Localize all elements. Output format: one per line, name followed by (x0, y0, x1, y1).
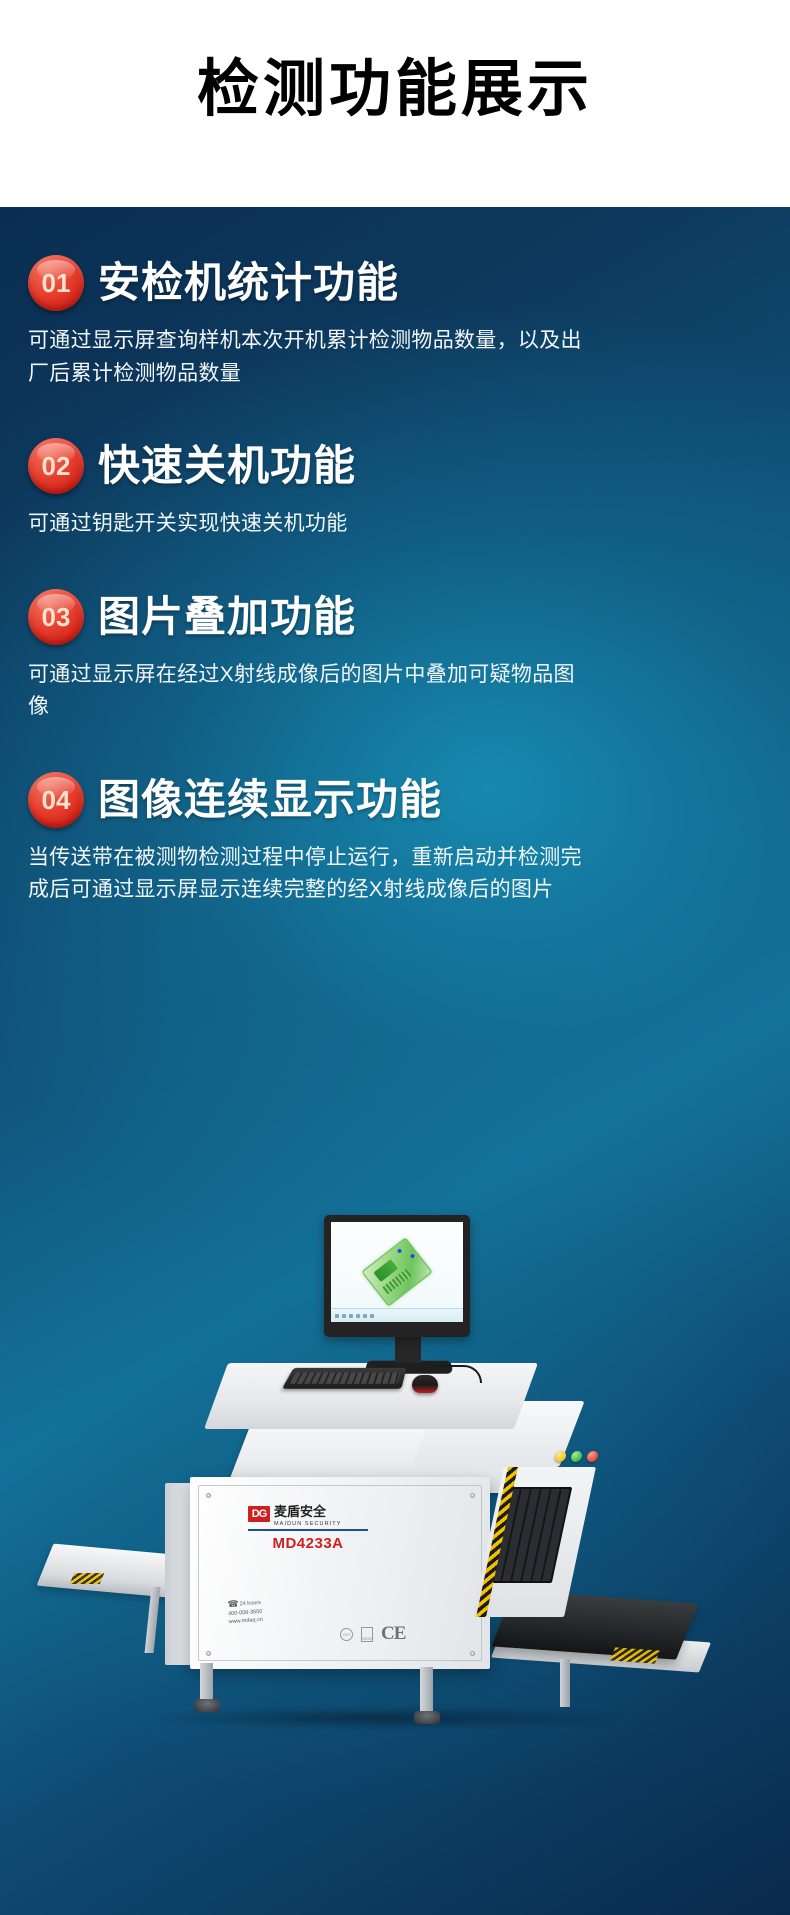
feature-item-01: 01 安检机统计功能 可通过显示屏查询样机本次开机累计检测物品数量，以及出厂后累… (0, 207, 790, 390)
feature-title: 图片叠加功能 (98, 594, 356, 639)
iso-certification-icon: ISO (340, 1628, 353, 1641)
feature-description: 可通过钥匙开关实现快速关机功能 (28, 508, 588, 541)
brand-logo-row: DG 麦盾安全 MAIDUN SECURITY (248, 1501, 368, 1527)
lamp-yellow-icon (554, 1451, 567, 1462)
xray-threat-marker (410, 1253, 416, 1259)
toolbar-icon (349, 1314, 353, 1318)
panel-screw (470, 1493, 475, 1498)
feature-heading-row: 04 图像连续显示功能 (28, 772, 762, 828)
feature-item-02: 02 快速关机功能 可通过钥匙开关实现快速关机功能 (0, 390, 790, 541)
monitor-screen (331, 1222, 463, 1322)
feature-list: 01 安检机统计功能 可通过显示屏查询样机本次开机累计检测物品数量，以及出厂后累… (0, 207, 790, 907)
ce-certification-icon: CE (381, 1623, 405, 1645)
feature-number-label: 03 (42, 604, 71, 630)
feature-description: 可通过显示屏在经过X射线成像后的图片中叠加可疑物品图像 (28, 659, 588, 724)
cabinet-foot (414, 1711, 440, 1724)
service-hours-label: 24 hours (239, 1600, 261, 1607)
brand-logo: DG 麦盾安全 MAIDUN SECURITY MD4233A (248, 1501, 368, 1552)
cabinet-foot (194, 1699, 220, 1712)
page-title: 检测功能展示 (197, 59, 593, 149)
hazard-label-left (70, 1573, 104, 1584)
toolbar-icon (342, 1314, 346, 1318)
screen-toolbar (331, 1308, 463, 1322)
product-model-number: MD4233A (248, 1535, 368, 1552)
feature-number-badge: 04 (28, 772, 84, 828)
cabinet-left-edge (165, 1483, 193, 1665)
cabinet-leg (420, 1667, 433, 1715)
brand-logomark-icon: DG (248, 1506, 270, 1522)
cabinet-leg (200, 1663, 213, 1703)
contact-info: ☎24 hours 400-008-3650 www.mdaq.cn (227, 1596, 263, 1627)
indicator-lamps (554, 1451, 599, 1462)
lamp-red-icon (586, 1451, 599, 1462)
feature-number-badge: 03 (28, 589, 84, 645)
product-feature-page: 检测功能展示 01 安检机统计功能 可通过显示屏查询样机本次开机累计检测物品数量… (0, 0, 790, 1915)
keyboard-keys (290, 1372, 401, 1383)
monitor-stand (395, 1337, 421, 1363)
phone-icon: ☎ (227, 1597, 239, 1611)
feature-title: 图像连续显示功能 (98, 777, 442, 822)
lamp-green-icon (570, 1451, 583, 1462)
panel-screw (470, 1651, 475, 1656)
input-conveyor-leg (145, 1587, 161, 1653)
product-photo: DG 麦盾安全 MAIDUN SECURITY MD4233A ☎24 hour… (0, 1215, 790, 1915)
feature-number-badge: 02 (28, 438, 84, 494)
feature-item-03: 03 图片叠加功能 可通过显示屏在经过X射线成像后的图片中叠加可疑物品图像 (0, 541, 790, 724)
panel-screw (206, 1651, 211, 1656)
brand-underline (248, 1529, 368, 1531)
floor-shadow (150, 1707, 620, 1729)
feature-title: 快速关机功能 (98, 443, 356, 488)
feature-title: 安检机统计功能 (98, 260, 399, 305)
feature-heading-row: 01 安检机统计功能 (28, 255, 762, 311)
toolbar-icon (335, 1314, 339, 1318)
panel-screw (206, 1493, 211, 1498)
toolbar-icon (363, 1314, 367, 1318)
toolbar-icon (356, 1314, 360, 1318)
brand-name-cn: 麦盾安全 (274, 1501, 342, 1520)
weee-certification-icon: WEEE (361, 1627, 373, 1642)
toolbar-icon (370, 1314, 374, 1318)
certification-marks: ISO WEEE CE (340, 1623, 405, 1645)
brand-name-en: MAIDUN SECURITY (274, 1521, 342, 1527)
brand-text-block: 麦盾安全 MAIDUN SECURITY (274, 1501, 342, 1527)
xray-threat-marker (397, 1248, 403, 1254)
feature-description: 当传送带在被测物检测过程中停止运行，重新启动并检测完成后可通过显示屏显示连续完整… (28, 842, 588, 907)
xray-scanner-illustration: DG 麦盾安全 MAIDUN SECURITY MD4233A ☎24 hour… (0, 1215, 790, 1915)
feature-heading-row: 02 快速关机功能 (28, 438, 762, 494)
feature-heading-row: 03 图片叠加功能 (28, 589, 762, 645)
mouse (412, 1375, 438, 1393)
output-conveyor-leg (560, 1659, 570, 1707)
feature-item-04: 04 图像连续显示功能 当传送带在被测物检测过程中停止运行，重新启动并检测完成后… (0, 724, 790, 907)
feature-number-label: 01 (42, 270, 71, 296)
operator-monitor (324, 1215, 470, 1337)
feature-number-label: 02 (42, 453, 71, 479)
xray-scan-image (361, 1237, 432, 1306)
page-header: 检测功能展示 (0, 0, 790, 207)
keyboard (282, 1368, 407, 1389)
feature-description: 可通过显示屏查询样机本次开机累计检测物品数量，以及出厂后累计检测物品数量 (28, 325, 588, 390)
feature-number-label: 04 (42, 787, 71, 813)
feature-number-badge: 01 (28, 255, 84, 311)
